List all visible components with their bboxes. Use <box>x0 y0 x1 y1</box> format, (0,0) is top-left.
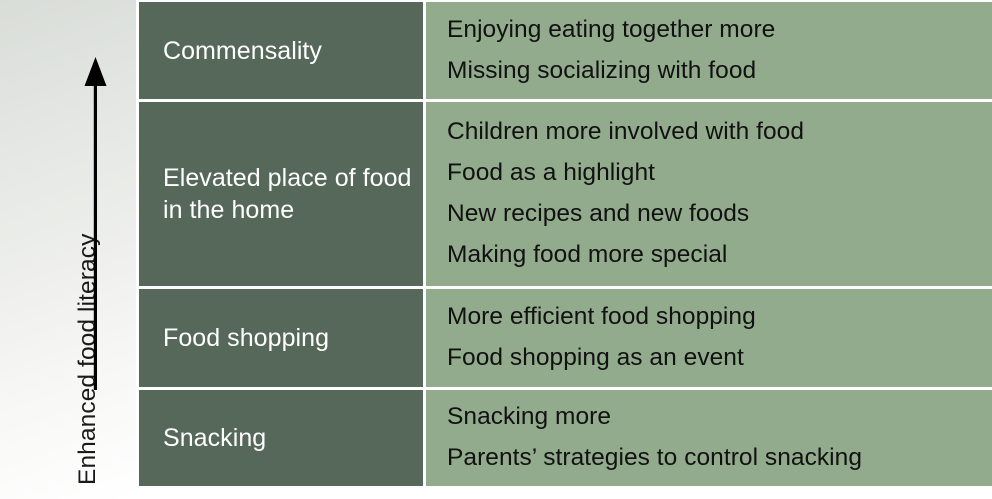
list-item: More efficient food shopping <box>447 297 982 338</box>
list-item: Enjoying eating together more <box>447 10 982 51</box>
theme-cell: Commensality <box>139 2 426 99</box>
theme-cell: Snacking <box>139 390 426 486</box>
theme-label: Snacking <box>163 422 266 454</box>
theme-label: Food shopping <box>163 322 329 354</box>
list-item: Children more involved with food <box>447 112 982 153</box>
axis-panel: Enhanced food literacy <box>0 0 136 499</box>
axis-label-container: Enhanced food literacy <box>0 0 136 499</box>
items-cell: Enjoying eating together more Missing so… <box>426 2 992 99</box>
table-row: Commensality Enjoying eating together mo… <box>139 2 992 102</box>
food-literacy-themes-figure: Enhanced food literacy Commensality Enjo… <box>0 0 992 499</box>
list-item: Parents’ strategies to control snacking <box>447 438 982 479</box>
items-cell: Snacking more Parents’ strategies to con… <box>426 390 992 486</box>
list-item: Food shopping as an event <box>447 338 982 379</box>
theme-cell: Food shopping <box>139 289 426 387</box>
list-item: Food as a highlight <box>447 153 982 194</box>
table-row: Food shopping More efficient food shoppi… <box>139 289 992 390</box>
list-item: Snacking more <box>447 397 982 438</box>
list-item: Making food more special <box>447 235 982 276</box>
table-row: Elevated place of food in the home Child… <box>139 102 992 289</box>
items-cell: More efficient food shopping Food shoppi… <box>426 289 992 387</box>
table-row: Snacking Snacking more Parents’ strategi… <box>139 390 992 486</box>
list-item: Missing socializing with food <box>447 51 982 92</box>
theme-label: Commensality <box>163 35 322 67</box>
themes-table: Commensality Enjoying eating together mo… <box>139 2 992 486</box>
theme-cell: Elevated place of food in the home <box>139 102 426 286</box>
list-item: New recipes and new foods <box>447 194 982 235</box>
theme-label: Elevated place of food in the home <box>163 162 413 226</box>
up-arrow-icon <box>82 55 110 390</box>
items-cell: Children more involved with food Food as… <box>426 102 992 286</box>
